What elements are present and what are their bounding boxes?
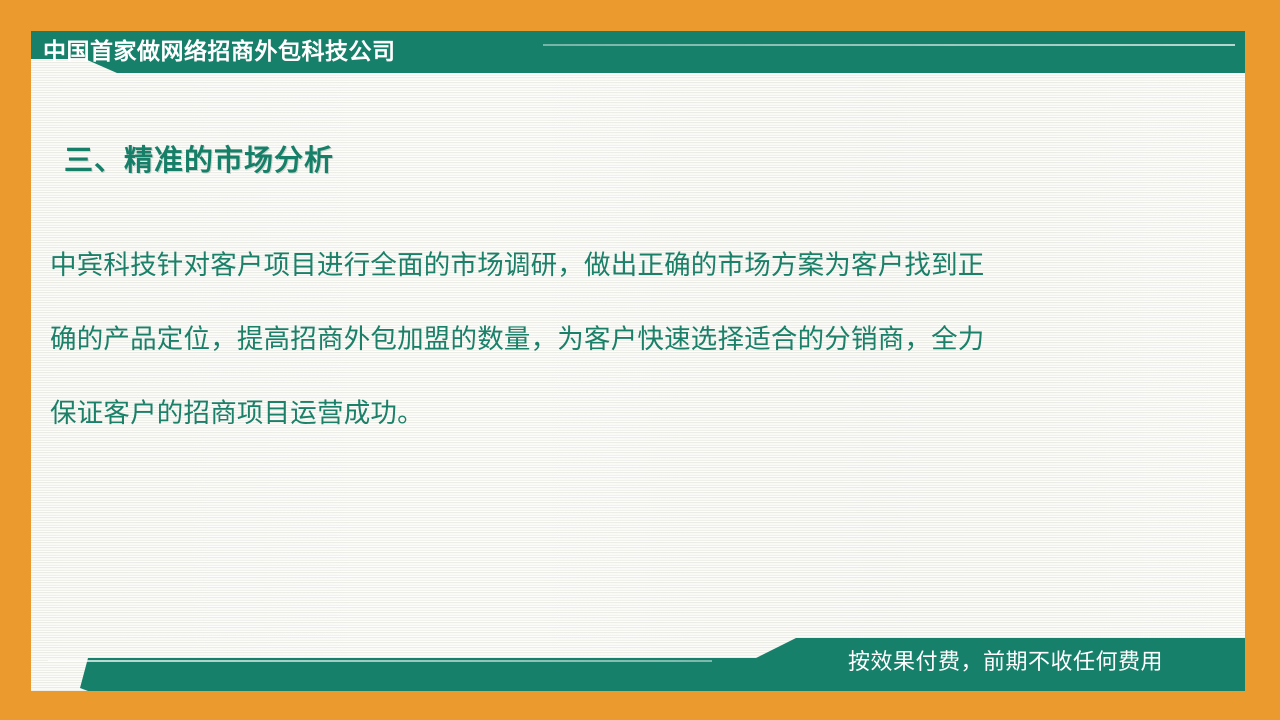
section-heading: 三、精准的市场分析: [64, 137, 334, 179]
paragraph-line: 中宾科技针对客户项目进行全面的市场调研，做出正确的市场方案为客户找到正: [50, 228, 1180, 302]
paragraph-line: 确的产品定位，提高招商外包加盟的数量，为客户快速选择适合的分销商，全力: [50, 302, 1180, 376]
slide-root: 中国首家做网络招商外包科技公司 三、精准的市场分析 中宾科技针对客户项目进行全面…: [0, 0, 1280, 720]
paragraph-line: 保证客户的招商项目运营成功。: [50, 376, 1180, 450]
footer-tagline: 按效果付费，前期不收任何费用: [848, 645, 1163, 679]
footer-hairline-decoration: [48, 660, 712, 662]
header-hairline-decoration: [543, 44, 1235, 46]
header-title: 中国首家做网络招商外包科技公司: [43, 34, 396, 68]
body-paragraph: 中宾科技针对客户项目进行全面的市场调研，做出正确的市场方案为客户找到正 确的产品…: [50, 228, 1180, 450]
